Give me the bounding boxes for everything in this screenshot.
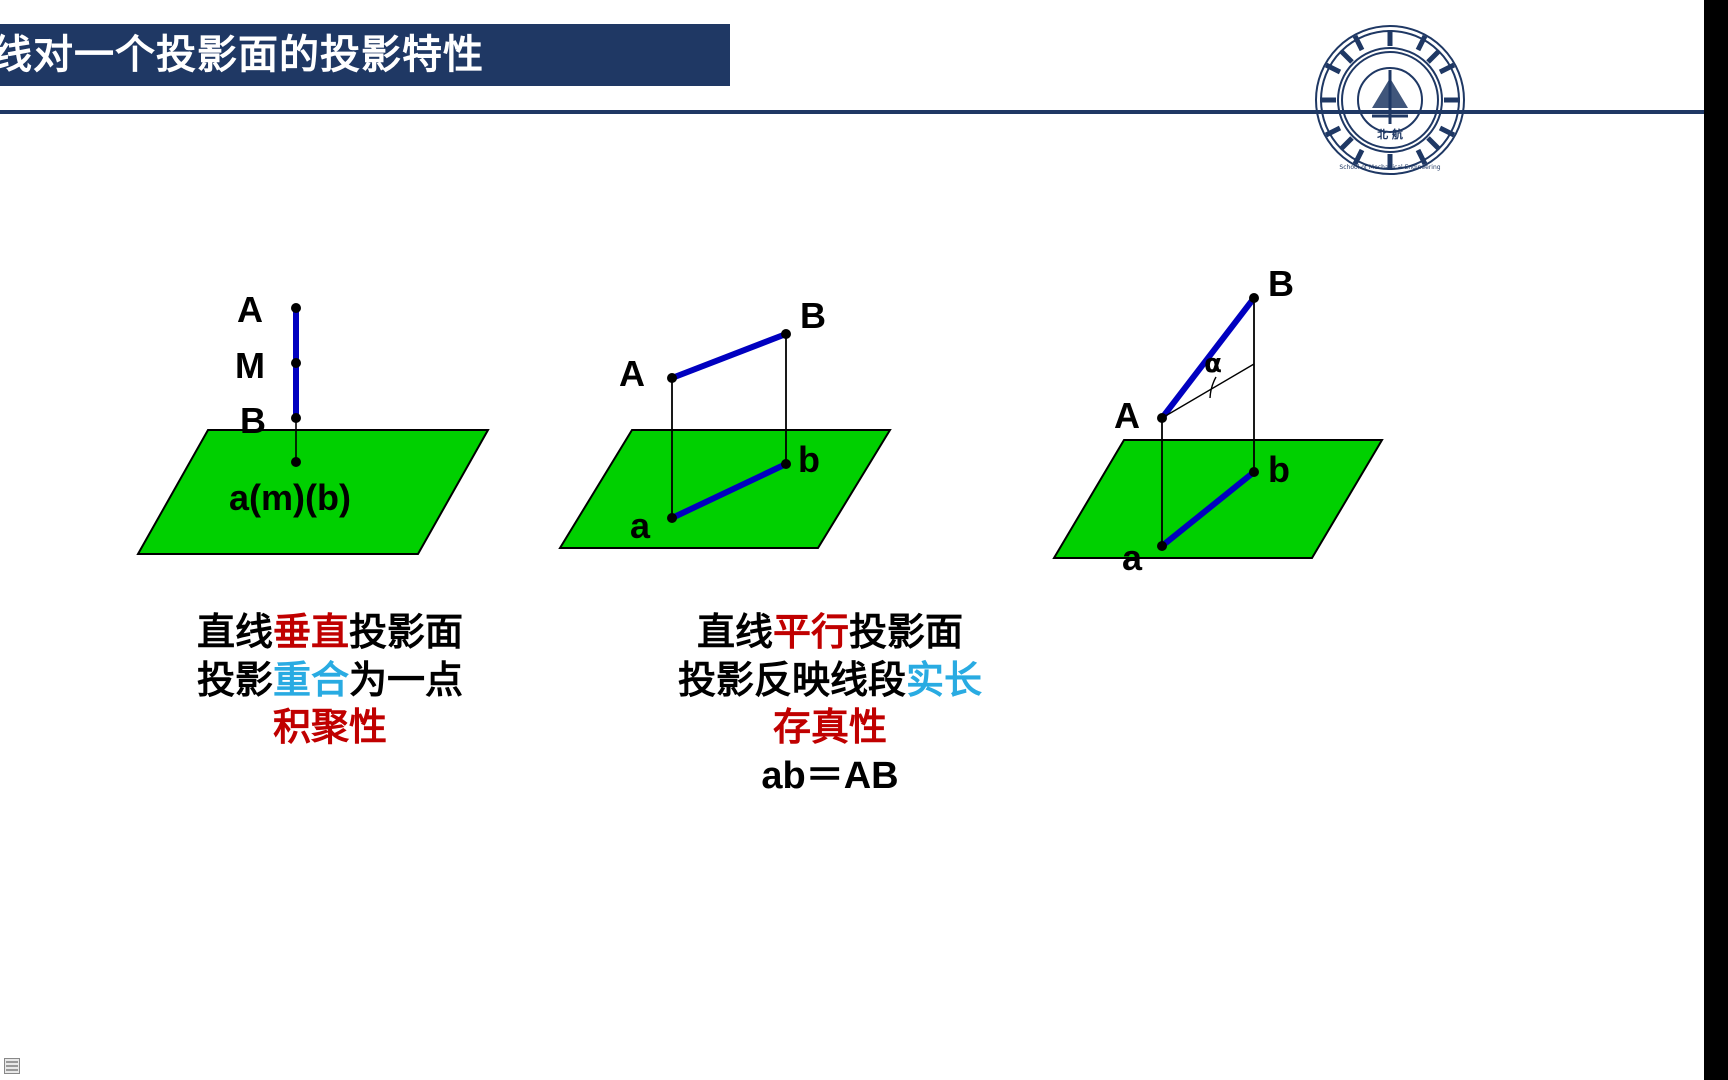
- point-A-2: [667, 373, 677, 383]
- label-a-3: a: [1122, 537, 1143, 578]
- label-B-1: B: [240, 400, 266, 441]
- point-a-3: [1157, 541, 1167, 551]
- caption-perpendicular: 直线垂直投影面 投影重合为一点 积聚性: [90, 610, 570, 753]
- logo-english-text: School of Mechanical Engineering: [1339, 164, 1440, 171]
- point-b-3: [1249, 467, 1259, 477]
- page-title: 线对一个投影面的投影特性: [0, 35, 484, 75]
- figures-row: A M B a(m)(b) A B a: [0, 200, 1704, 620]
- caption1-line3: 积聚性: [90, 705, 570, 753]
- figure-parallel: A B a b: [560, 295, 890, 548]
- segment-AB-2: [672, 334, 786, 378]
- slide-title-banner: 线对一个投影面的投影特性: [0, 24, 730, 86]
- figure-perpendicular: A M B a(m)(b): [138, 289, 488, 554]
- caption-parallel: 直线平行投影面 投影反映线段实长 存真性 ab＝AB: [530, 610, 1130, 800]
- point-abm-1: [291, 457, 301, 467]
- label-alpha-3: α: [1204, 349, 1222, 379]
- point-A-3: [1157, 413, 1167, 423]
- point-M-1: [291, 358, 301, 368]
- logo-inner-text: 北 航: [1377, 127, 1403, 141]
- caption2-line4: ab＝AB: [530, 753, 1130, 801]
- figure-inclined: A B a b α: [1054, 263, 1382, 578]
- label-projection-1: a(m)(b): [229, 477, 351, 518]
- label-M-1: M: [235, 345, 265, 386]
- point-A-1: [291, 303, 301, 313]
- label-A-2: A: [619, 353, 645, 394]
- label-b-3: b: [1268, 449, 1290, 490]
- point-B-2: [781, 329, 791, 339]
- label-b-2: b: [798, 439, 820, 480]
- footer-thumbnail-icon: [4, 1058, 20, 1074]
- caption1-line1: 直线垂直投影面: [90, 610, 570, 658]
- label-B-2: B: [800, 295, 826, 336]
- caption1-line2: 投影重合为一点: [90, 658, 570, 706]
- slide-canvas: 线对一个投影面的投影特性: [0, 0, 1704, 1080]
- label-a-2: a: [630, 505, 651, 546]
- caption2-line3: 存真性: [530, 705, 1130, 753]
- right-black-bar: [1704, 0, 1728, 1080]
- label-B-3: B: [1268, 263, 1294, 304]
- label-A-1: A: [237, 289, 263, 330]
- point-B-1: [291, 413, 301, 423]
- point-B-3: [1249, 293, 1259, 303]
- point-b-2: [781, 459, 791, 469]
- caption2-line1: 直线平行投影面: [530, 610, 1130, 658]
- label-A-3: A: [1114, 395, 1140, 436]
- university-logo-icon: 北 航 School of Mechanical Engineering: [1310, 20, 1470, 180]
- projection-plane-2: [560, 430, 890, 548]
- point-a-2: [667, 513, 677, 523]
- caption2-line2: 投影反映线段实长: [530, 658, 1130, 706]
